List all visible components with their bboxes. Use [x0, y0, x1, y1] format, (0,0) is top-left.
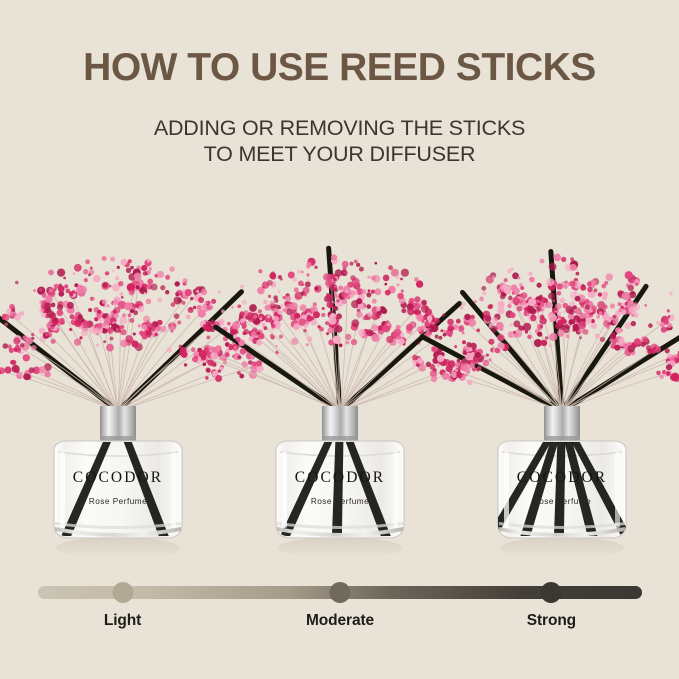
diffuser-moderate: COCODOR Rose Perfume — [230, 196, 450, 566]
reed-arrangement-light — [8, 211, 228, 416]
diffuser-light: COCODOR Rose Perfume — [8, 196, 228, 566]
bottle-svg-light — [8, 406, 228, 566]
reed-arrangement-strong — [452, 211, 672, 416]
slider-labels: Light Moderate Strong — [0, 612, 679, 640]
bottle-light: COCODOR Rose Perfume — [8, 406, 228, 566]
slider-knob-moderate[interactable] — [330, 582, 351, 603]
subtitle-line-1: ADDING OR REMOVING THE STICKS — [154, 116, 525, 140]
slider-label-light: Light — [104, 612, 141, 630]
diffuser-strong: COCODOR Rose Perfume — [452, 196, 672, 566]
bottle-svg-strong — [452, 406, 672, 566]
page-subtitle: ADDING OR REMOVING THE STICKS TO MEET YO… — [0, 89, 679, 167]
subtitle-line-2: TO MEET YOUR DIFFUSER — [204, 142, 476, 166]
bottle-strong: COCODOR Rose Perfume — [452, 406, 672, 566]
arrangement-svg-moderate — [230, 211, 450, 416]
page-title: HOW TO USE REED STICKS — [0, 48, 679, 89]
slider-knob-strong[interactable] — [541, 582, 562, 603]
arrangement-svg-light — [8, 211, 228, 416]
bottle-svg-moderate — [230, 406, 450, 566]
bottle-moderate: COCODOR Rose Perfume — [230, 406, 450, 566]
arrangement-svg-strong — [452, 211, 672, 416]
diffuser-row: COCODOR Rose Perfume COCODOR Rose Perfum… — [0, 196, 679, 566]
reed-arrangement-moderate — [230, 211, 450, 416]
slider-label-moderate: Moderate — [306, 612, 374, 630]
intensity-slider[interactable] — [38, 582, 642, 602]
slider-knob-light[interactable] — [112, 582, 133, 603]
infographic-page: HOW TO USE REED STICKS ADDING OR REMOVIN… — [0, 0, 679, 679]
header: HOW TO USE REED STICKS ADDING OR REMOVIN… — [0, 0, 679, 167]
slider-label-strong: Strong — [527, 612, 576, 630]
